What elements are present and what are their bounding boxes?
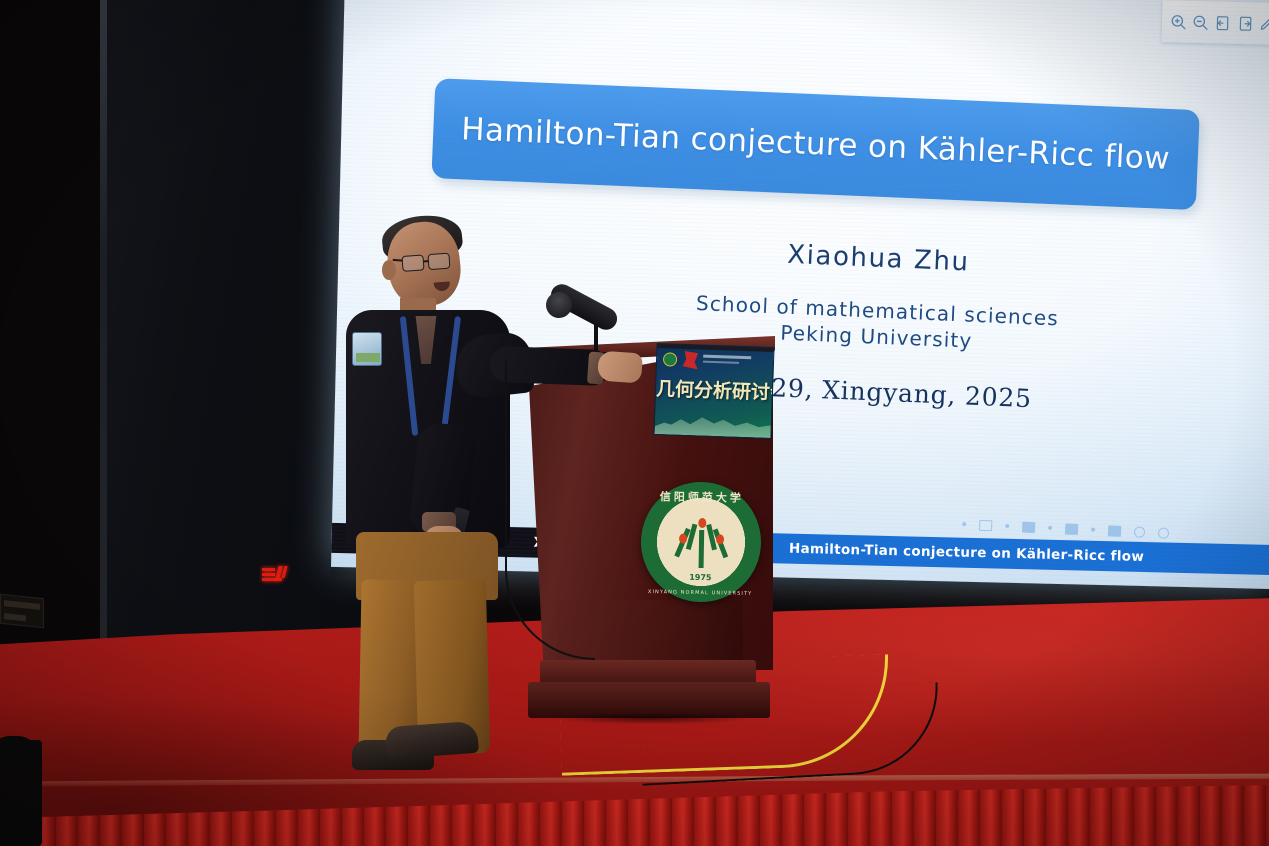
slide-author: Xiaohua Zhu bbox=[668, 235, 1089, 283]
sign-subtext-line-1 bbox=[703, 355, 751, 360]
nav-slide-icon[interactable] bbox=[979, 519, 992, 531]
right-shoe bbox=[385, 721, 479, 759]
conference-sign: 几何分析研讨会 bbox=[653, 343, 774, 439]
nav-dot-icon[interactable] bbox=[1091, 528, 1095, 532]
sign-title-text: 几何分析研讨会 bbox=[656, 374, 775, 405]
emblem-year-text: 1975 bbox=[640, 572, 760, 583]
sign-anniversary-logo bbox=[681, 351, 699, 370]
nav-section-icon[interactable] bbox=[1022, 521, 1035, 533]
zoom-in-icon[interactable] bbox=[1170, 13, 1187, 30]
emblem-sprout-icon bbox=[675, 520, 728, 569]
nav-back-icon[interactable] bbox=[1134, 526, 1145, 537]
pdf-viewer-toolbar[interactable] bbox=[1162, 0, 1269, 45]
red-led-indicator bbox=[262, 566, 288, 582]
dark-wall-panel bbox=[100, 0, 362, 649]
wall-outlet bbox=[0, 594, 44, 629]
nav-frame-icon[interactable] bbox=[1108, 525, 1121, 537]
next-page-icon[interactable] bbox=[1237, 15, 1254, 32]
slide-title-banner: Hamilton-Tian conjecture on Kähler-Ricc … bbox=[431, 78, 1200, 210]
nav-dot-icon[interactable] bbox=[1005, 524, 1009, 528]
slide-title-text: Hamilton-Tian conjecture on Kähler-Ricc … bbox=[461, 111, 1171, 177]
name-badge bbox=[352, 332, 382, 366]
emblem-top-text: 信阳师范大学 bbox=[642, 488, 762, 506]
microphone-cable bbox=[505, 360, 595, 660]
panel-edge bbox=[100, 0, 107, 646]
zoom-out-icon[interactable] bbox=[1192, 13, 1209, 30]
photo-scene: Hamilton-Tian conjecture on Kähler-Ricc … bbox=[0, 0, 1269, 846]
extended-hand bbox=[597, 351, 643, 384]
pen-icon[interactable] bbox=[1259, 15, 1269, 32]
left-wall bbox=[0, 0, 106, 660]
footline-title-text: Hamilton-Tian conjecture on Kähler-Ricc … bbox=[789, 541, 1144, 565]
chair bbox=[0, 740, 42, 846]
nav-dot-icon[interactable] bbox=[1048, 526, 1052, 530]
sign-skyline-graphic bbox=[654, 408, 773, 438]
nav-dot-icon[interactable] bbox=[962, 522, 966, 526]
sign-subtext-line-2 bbox=[703, 361, 739, 364]
nav-subsection-icon[interactable] bbox=[1065, 523, 1078, 535]
sign-university-logo bbox=[663, 352, 677, 366]
ear bbox=[382, 260, 396, 280]
nav-forward-icon[interactable] bbox=[1158, 527, 1169, 538]
previous-page-icon[interactable] bbox=[1214, 14, 1231, 31]
